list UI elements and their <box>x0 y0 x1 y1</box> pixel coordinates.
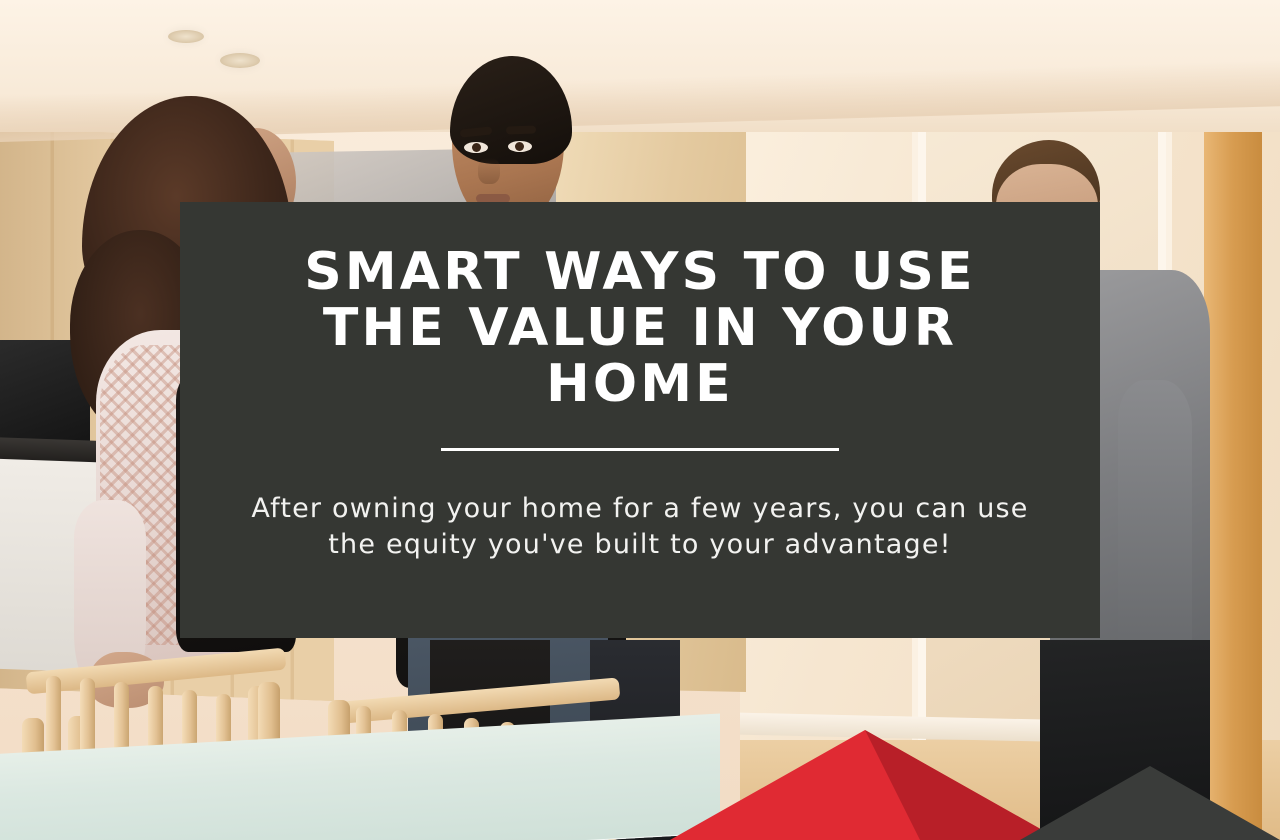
person-right-arm <box>1118 380 1192 670</box>
subtitle-text: After owning your home for a few years, … <box>240 491 1040 562</box>
page-title: Smart Ways To Use The Value In Your Home <box>240 244 1040 412</box>
person-right-trousers <box>1040 640 1210 840</box>
marketing-graphic: Smart Ways To Use The Value In Your Home… <box>0 0 1280 840</box>
overlay-panel: Smart Ways To Use The Value In Your Home… <box>180 202 1100 638</box>
chair-top-rail <box>330 677 621 724</box>
title-divider <box>441 448 839 451</box>
